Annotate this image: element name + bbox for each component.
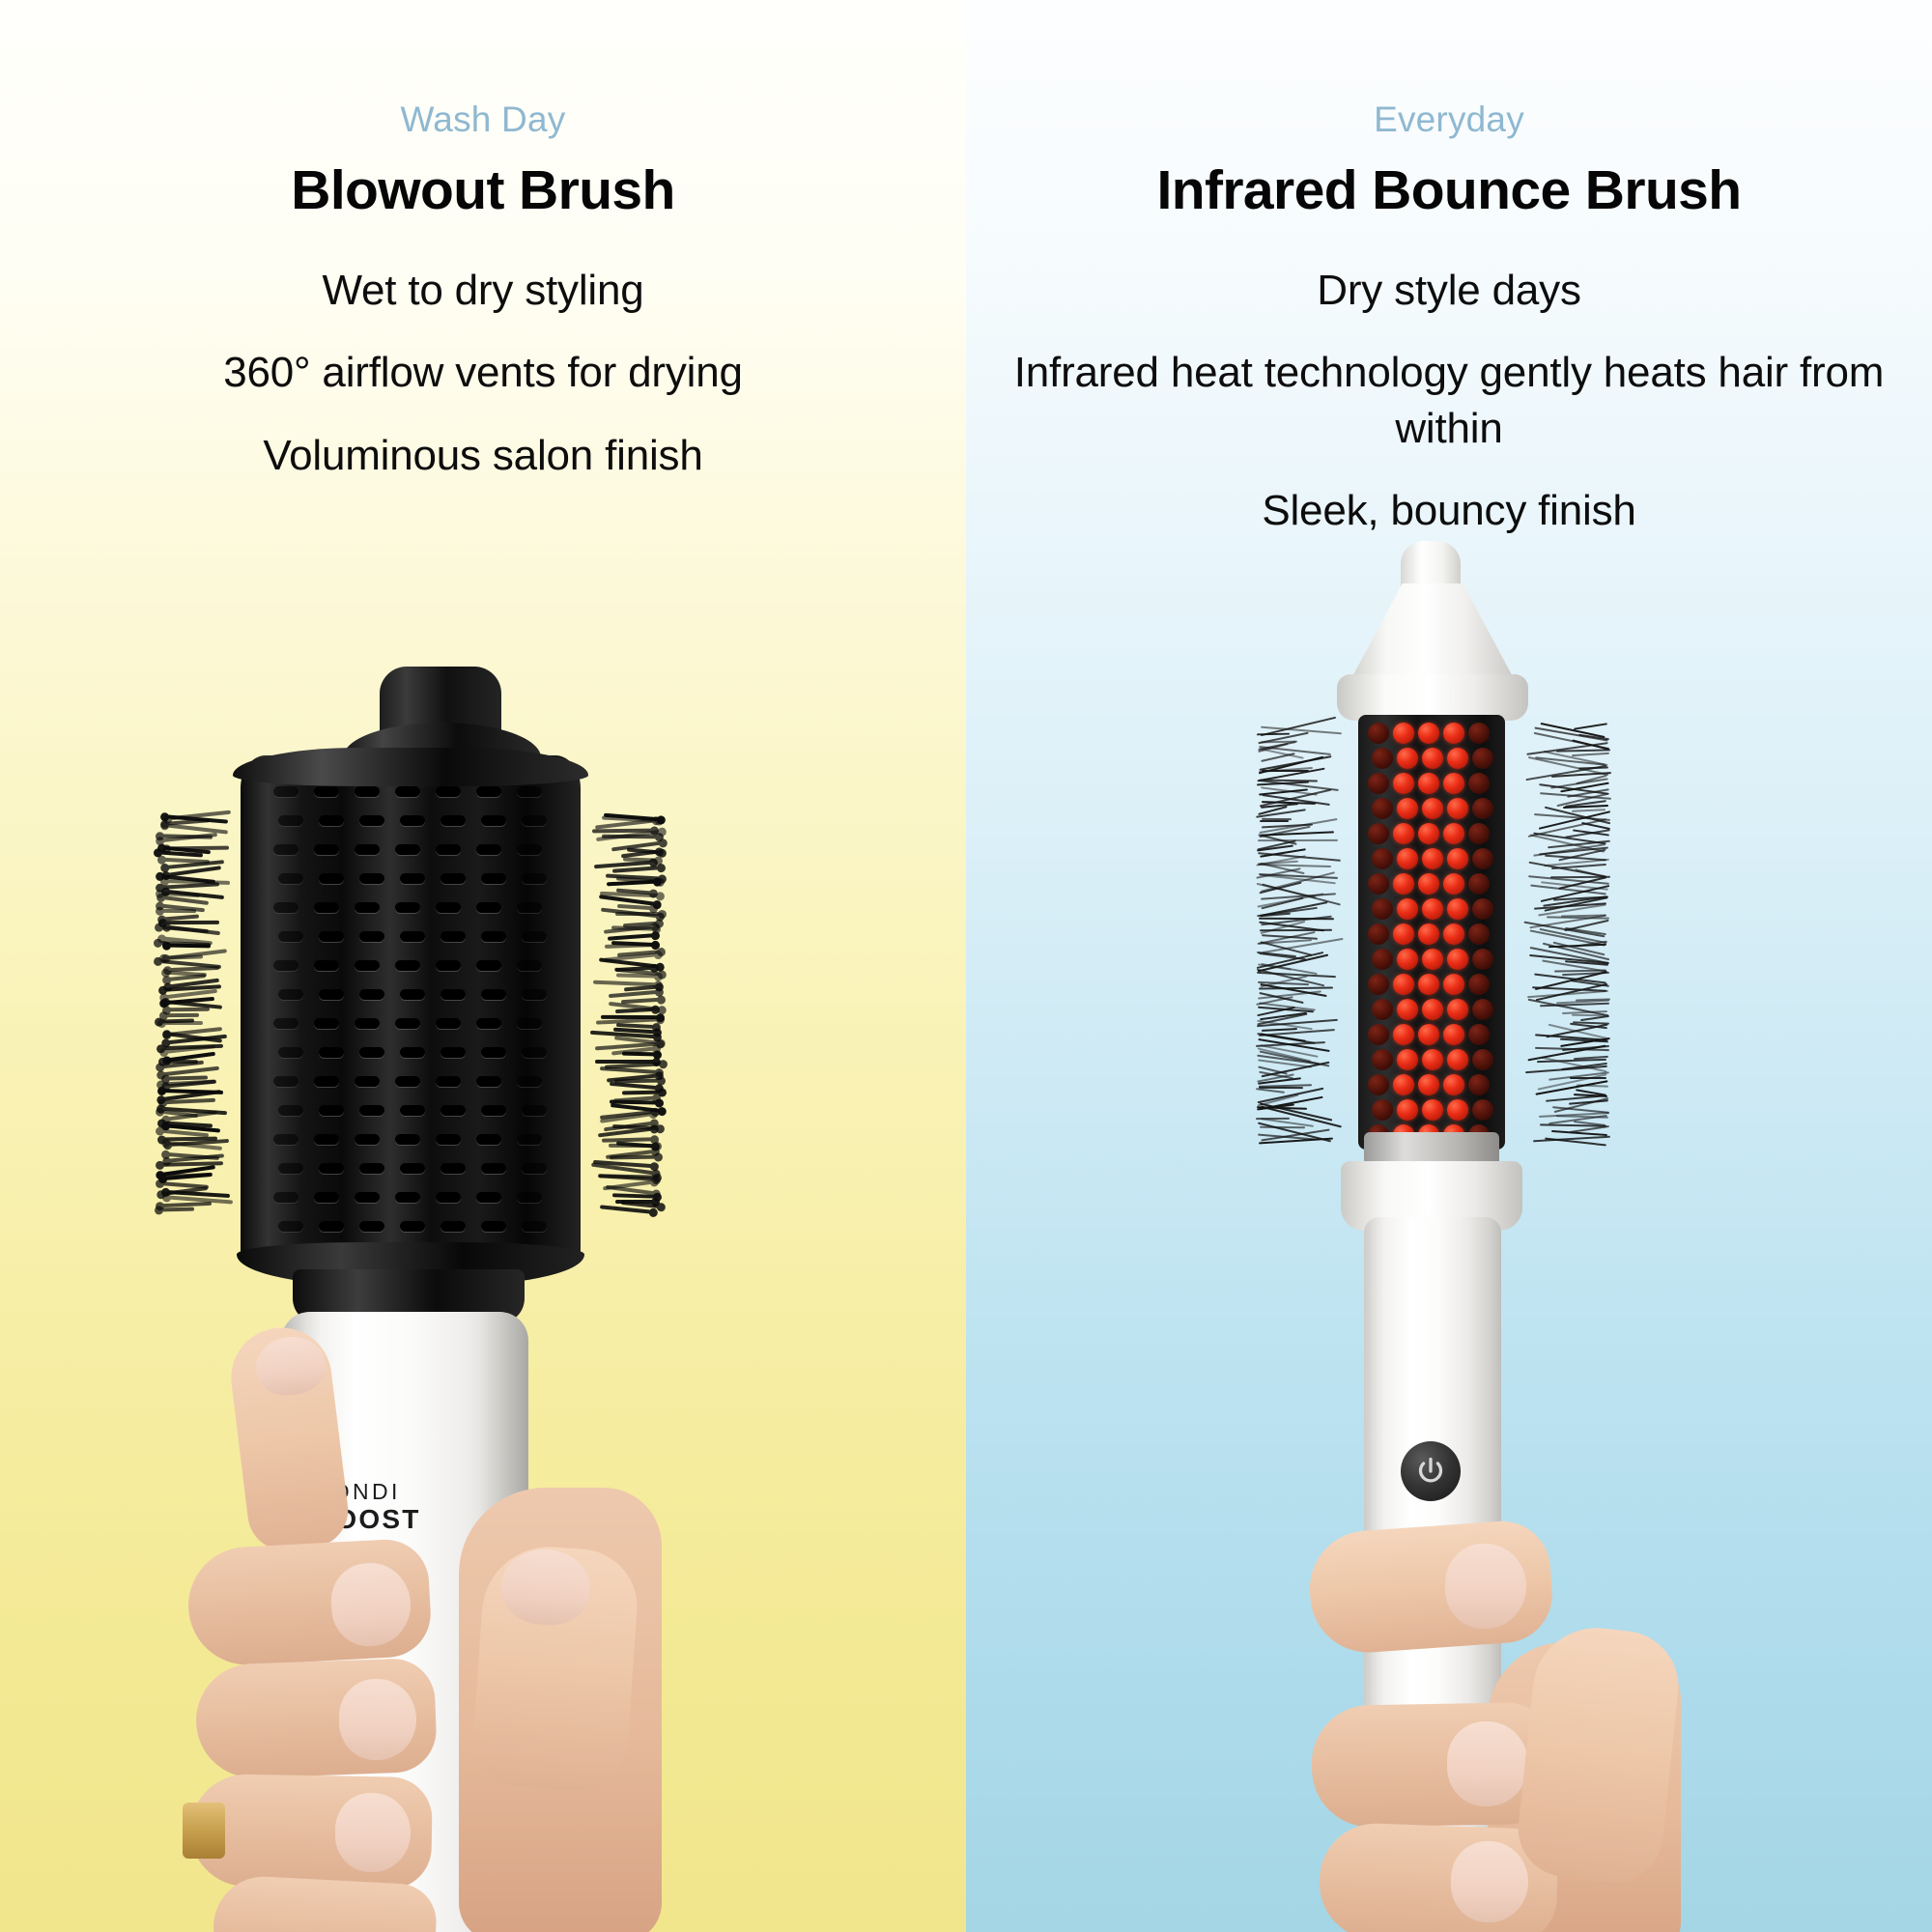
vent-slot [278,1163,303,1174]
fingernail [1447,1721,1528,1806]
product-blowout-brush: BONDI BOOST [169,667,652,1932]
headline-left: Blowout Brush [0,161,966,221]
vent-slot [476,960,501,971]
vent-slot [440,931,466,942]
fingernail [335,1793,411,1872]
infrared-cell [1468,1024,1490,1045]
infrared-cell [1368,773,1389,794]
vent-slot [273,1134,298,1145]
vent-slot [481,1221,506,1232]
infrared-cell [1368,873,1389,895]
infrared-cell [1372,1099,1393,1121]
bristle [1260,820,1289,822]
infrared-cell [1468,823,1490,844]
vent-slot [359,873,384,884]
vent-slot [314,1076,339,1087]
vent-slot [278,1105,303,1116]
vent-slot [273,902,298,913]
vent-slot [319,873,344,884]
vent-slot [481,815,506,826]
bristle [615,912,661,916]
feature-item: Dry style days [966,263,1932,318]
vent-slot [395,1192,420,1203]
vent-slot [395,1134,420,1145]
product-comparison-image: BONDI BOOST Wash Day Blowout Brush Wet t… [0,0,1932,1932]
infrared-cell [1393,1074,1414,1095]
text-block-right: Everyday Infrared Bounce Brush Dry style… [966,0,1932,538]
vent-slot [273,1018,298,1029]
vent-slot [522,1047,547,1058]
vent-slot [440,989,466,1000]
bristle [610,1155,657,1160]
vent-slot [517,786,542,797]
infrared-cell [1418,723,1439,744]
product-infrared-bounce-brush: 45 [1256,541,1662,1932]
infrared-cell [1368,1024,1389,1045]
fingernail [339,1679,416,1760]
infrared-cell [1372,898,1393,920]
bristles-right [573,811,662,1227]
vent-slot [319,989,344,1000]
infrared-cell [1418,923,1439,945]
hand-holding-infrared-brush [1198,1536,1700,1932]
vent-slot [273,1076,298,1087]
vent-slot [522,815,547,826]
bristle [1262,1028,1297,1032]
feature-item: Sleek, bouncy finish [966,483,1932,538]
bristle [612,1193,656,1199]
vent-slot [436,1076,461,1087]
bristle [1258,839,1338,841]
bristle [1257,733,1290,736]
infrared-cell [1468,873,1490,895]
vent-slot [517,902,542,913]
infrared-cell [1468,723,1490,744]
bristle [163,1021,203,1025]
feature-list-right: Dry style days Infrared heat technology … [966,263,1932,538]
infrared-cell [1372,798,1393,819]
infrared-cell [1472,848,1493,869]
vent-slot [436,786,461,797]
vent-slot [395,844,420,855]
bristle [602,835,658,838]
bristle [610,1082,658,1090]
infrared-cell [1372,999,1393,1020]
vent-slot [359,1221,384,1232]
bristle [612,866,660,873]
vent-slot [395,1018,420,1029]
infrared-cell [1443,1024,1464,1045]
infrared-cell [1393,1024,1414,1045]
infrared-cell [1418,974,1439,995]
vent-slot [522,931,547,942]
bristle [161,882,219,889]
infrared-cell [1422,1099,1443,1121]
infrared-cell [1443,923,1464,945]
infrared-cell [1397,999,1418,1020]
vent-slot [476,844,501,855]
bristle [607,880,656,887]
vent-slot [314,960,339,971]
vent-slot [278,873,303,884]
infrared-cell [1447,898,1468,920]
vent-slot [400,1221,425,1232]
vent-slot [314,786,339,797]
vent-slot [273,1192,298,1203]
vent-slot [436,960,461,971]
vent-slot [481,989,506,1000]
bristles-left [1256,724,1364,1150]
infrared-cell [1472,1049,1493,1070]
vent-slot [436,1192,461,1203]
vent-slot [517,1018,542,1029]
vent-slot [517,1076,542,1087]
infrared-cell [1397,748,1418,769]
infrared-cell [1443,773,1464,794]
vent-slot [314,844,339,855]
eyebrow-right: Everyday [966,100,1932,140]
vent-slot [355,1076,380,1087]
infrared-cell [1393,974,1414,995]
headline-right: Infrared Bounce Brush [966,161,1932,221]
gold-ring [183,1803,225,1859]
vent-slot [522,1105,547,1116]
infrared-cell [1447,848,1468,869]
bristle [1256,1088,1285,1094]
infrared-cell [1397,949,1418,970]
vent-slot [278,1047,303,1058]
infrared-cell [1447,798,1468,819]
bristle [163,1098,214,1105]
vent-slot [273,960,298,971]
bristle [616,974,657,979]
vent-slot [395,786,420,797]
infrared-cell [1422,949,1443,970]
vent-slot [314,1018,339,1029]
bristle [164,921,219,924]
fingernail [1451,1841,1528,1922]
infrared-cell [1443,1074,1464,1095]
infrared-cell [1418,773,1439,794]
vent-slot [400,1163,425,1174]
vent-slot [481,931,506,942]
infrared-cell [1468,1074,1490,1095]
vent-slot [359,815,384,826]
vent-slot [400,989,425,1000]
feature-list-left: Wet to dry styling 360° airflow vents fo… [0,263,966,483]
vent-slot [355,1192,380,1203]
vent-slot [314,902,339,913]
infrared-cell [1422,999,1443,1020]
bristle [609,1144,656,1148]
infrared-cell [1418,873,1439,895]
panel-left-blowout-brush: BONDI BOOST Wash Day Blowout Brush Wet t… [0,0,966,1932]
infrared-cell [1422,848,1443,869]
vent-slot [359,931,384,942]
bristle [165,954,203,959]
vent-slot [400,873,425,884]
power-icon [1414,1455,1447,1488]
infrared-cell [1422,748,1443,769]
fingernail [1445,1544,1526,1629]
infrared-cell [1472,949,1493,970]
feature-item: Wet to dry styling [0,263,966,318]
bristle [615,1008,654,1013]
vent-slot [400,1105,425,1116]
bristle [1572,753,1609,756]
vent-slot [278,1221,303,1232]
bristle [1572,809,1605,812]
feature-item: Infrared heat technology gently heats ha… [966,345,1932,455]
vent-slot [319,1163,344,1174]
vent-slot [476,1134,501,1145]
vent-slot [476,786,501,797]
vent-slot [319,815,344,826]
vent-slot [278,989,303,1000]
vent-slot [319,1047,344,1058]
vent-slot [522,1221,547,1232]
infrared-cell [1368,723,1389,744]
vent-slot [400,815,425,826]
infrared-cell [1372,848,1393,869]
bristle [622,1052,656,1057]
infrared-cell [1472,748,1493,769]
infrared-cell [1468,773,1490,794]
vent-slot [359,1105,384,1116]
infrared-cell [1372,949,1393,970]
vent-slot [517,960,542,971]
infrared-cell [1393,723,1414,744]
eyebrow-left: Wash Day [0,100,966,140]
infrared-cell [1447,949,1468,970]
vent-slot [395,1076,420,1087]
infrared-cell [1422,798,1443,819]
infrared-cell [1447,999,1468,1020]
cone-collar [1337,674,1528,721]
vent-slot [440,1163,466,1174]
infrared-cell [1397,1099,1418,1121]
vent-slot [517,844,542,855]
infrared-barrel [1358,715,1505,1150]
vent-slot [278,815,303,826]
infrared-cell [1393,873,1414,895]
bristle [165,1013,199,1017]
infrared-cell [1447,1049,1468,1070]
vent-slot [359,1163,384,1174]
infrared-cell [1397,898,1418,920]
infrared-cell [1443,723,1464,744]
vent-slot [440,873,466,884]
infrared-cell [1443,823,1464,844]
vent-slot [440,815,466,826]
vent-slot [355,1134,380,1145]
vent-slot [481,1047,506,1058]
vent-slot [319,1105,344,1116]
bristle [161,909,196,913]
vent-slot [355,786,380,797]
vent-slot [436,1018,461,1029]
feature-item: Voluminous salon finish [0,428,966,483]
vent-slot [395,960,420,971]
vent-slot [355,1018,380,1029]
vent-slot [440,1047,466,1058]
infrared-cell [1447,1099,1468,1121]
infrared-cell [1422,898,1443,920]
vent-slot [400,1047,425,1058]
infrared-cell [1418,823,1439,844]
vent-slot [355,902,380,913]
vent-slot [319,931,344,942]
vent-slot [400,931,425,942]
vent-slot [476,1018,501,1029]
vent-slot [481,1105,506,1116]
vent-slot [476,1076,501,1087]
vent-slot [359,1047,384,1058]
feature-item: 360° airflow vents for drying [0,345,966,400]
vent-slot [355,844,380,855]
vent-slot [319,1221,344,1232]
panel-right-infrared-bounce-brush: 45 Everyday Infrared Bounce Brush Dry st… [966,0,1932,1932]
vent-slot [440,1221,466,1232]
vent-slot [278,931,303,942]
bristle [1556,749,1610,752]
infrared-cell [1397,1049,1418,1070]
thumb [1514,1622,1684,1887]
bristle [1261,832,1334,837]
vent-slot [355,960,380,971]
infrared-cell [1393,923,1414,945]
infrared-cell [1468,923,1490,945]
infrared-cell [1418,1074,1439,1095]
infrared-cell [1443,974,1464,995]
cone-cap [1349,583,1517,684]
infrared-cell [1422,1049,1443,1070]
hand-holding-blowout-brush [169,1343,652,1932]
vent-slot [522,1163,547,1174]
infrared-cell [1418,1024,1439,1045]
bristle [168,1007,210,1011]
infrared-cell [1443,873,1464,895]
vent-slot [517,1192,542,1203]
infrared-cell [1372,1049,1393,1070]
vent-slot [522,989,547,1000]
infrared-cell [1472,798,1493,819]
bristle [160,1207,194,1211]
vent-slot [359,989,384,1000]
vent-slot [481,873,506,884]
vent-slot [476,902,501,913]
infrared-cell [1472,1099,1493,1121]
infrared-cell [1472,898,1493,920]
infrared-cell [1368,1074,1389,1095]
infrared-cell [1397,798,1418,819]
bristle [1574,723,1607,729]
infrared-cell [1368,974,1389,995]
infrared-cell [1393,773,1414,794]
vent-slot [273,844,298,855]
vent-slot [273,786,298,797]
bristles-right [1503,724,1611,1150]
text-block-left: Wash Day Blowout Brush Wet to dry stylin… [0,0,966,483]
bristle [166,824,228,835]
vent-slot [436,1134,461,1145]
infrared-cell [1393,823,1414,844]
vent-slot [314,1134,339,1145]
vent-slot [436,844,461,855]
infrared-cell [1397,848,1418,869]
power-button[interactable] [1401,1441,1461,1501]
infrared-cell [1368,923,1389,945]
infrared-cell [1372,748,1393,769]
airflow-vents [266,781,555,1254]
infrared-cell [1468,974,1490,995]
vent-slot [440,1105,466,1116]
bristle [168,943,211,948]
vent-slot [436,902,461,913]
vent-slot [476,1192,501,1203]
vent-slot [481,1163,506,1174]
bristle [609,990,658,998]
bristles-left [159,811,248,1227]
infrared-cell [1447,748,1468,769]
infrared-cell [1368,823,1389,844]
bristle [608,933,654,940]
vent-slot [314,1192,339,1203]
vent-slot [522,873,547,884]
vent-slot [517,1134,542,1145]
infrared-cell [1472,999,1493,1020]
vent-slot [395,902,420,913]
